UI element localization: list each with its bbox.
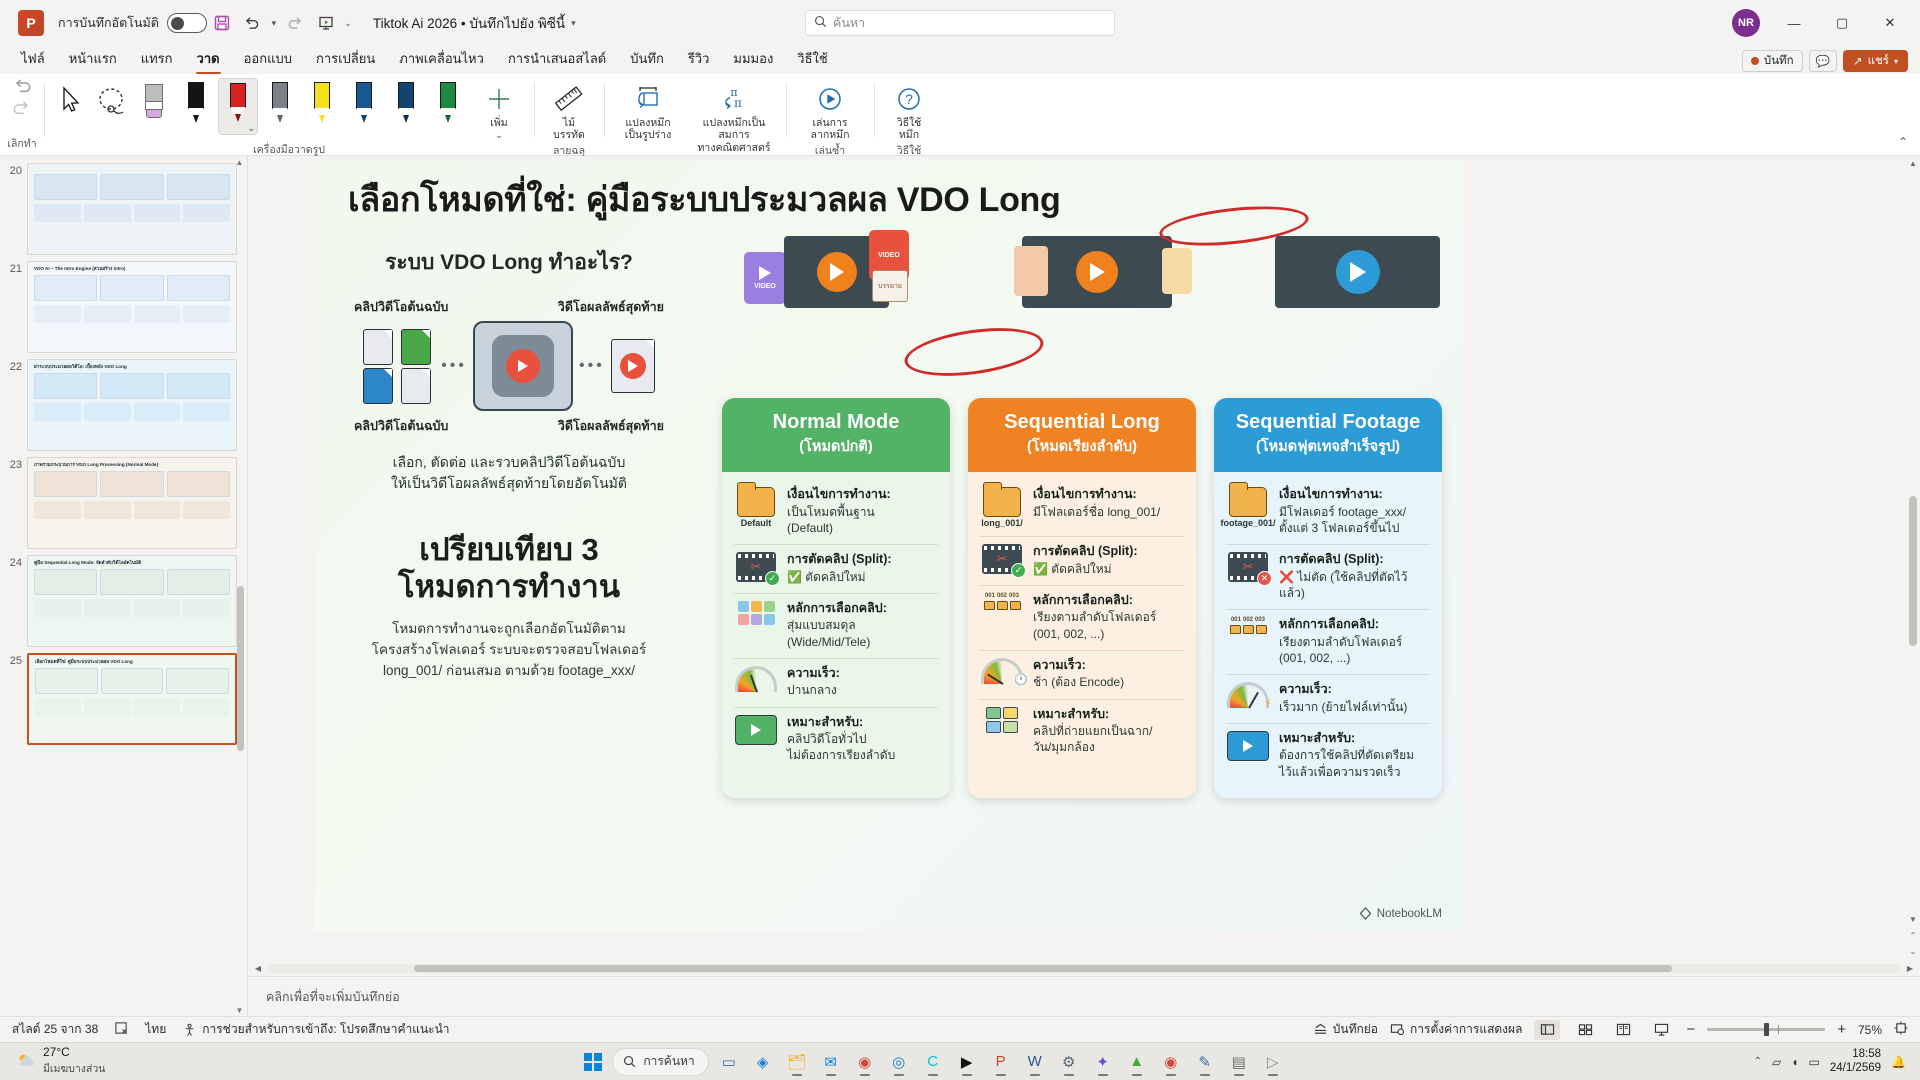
row-value: สุ่มแบบสมดุล(Wide/Mid/Tele) <box>787 617 938 649</box>
row-value: เรียงตามลำดับโฟลเดอร์(001, 002, ...) <box>1279 634 1430 666</box>
zoom-slider-handle[interactable] <box>1764 1023 1769 1036</box>
stencil-group: ไม้บรรทัด ลายฉลุ <box>534 74 604 155</box>
display-settings[interactable]: การตั้งค่าการแสดงผล <box>1390 1020 1522 1039</box>
weather-desc: มีเมฆบางส่วน <box>43 1060 105 1077</box>
autosave-toggle[interactable] <box>167 13 207 33</box>
video-icon <box>735 715 777 745</box>
weather-icon <box>16 1051 36 1071</box>
flow-label-input: คลิปวิดีโอต้นฉบับ <box>354 297 448 317</box>
view-normal-icon[interactable] <box>1534 1020 1560 1040</box>
notification-center-icon[interactable]: 🔔 <box>1891 1055 1906 1069</box>
taskbar-clock[interactable]: 18:58 24/1/2569 <box>1830 1048 1881 1076</box>
row-value: เป็นโหมดพื้นฐาน(Default) <box>787 504 938 536</box>
row-icon: Default <box>734 487 778 528</box>
ink-replay-label-1: เล่นการ <box>812 117 847 129</box>
document-icon <box>363 329 393 365</box>
widgets-icon[interactable]: ◈ <box>747 1047 779 1077</box>
system-tray: ⌃ ▱ ◖ ▭ 18:58 24/1/2569 🔔 <box>1754 1048 1912 1076</box>
ribbon-tab-0[interactable]: ไฟล์ <box>10 45 56 74</box>
notes-icon <box>1313 1023 1328 1036</box>
slide-preview-title: VDO AI – The Intro Engine (ส่วนสร้าง Int… <box>28 262 236 275</box>
tray-network-icon[interactable]: ▱ <box>1772 1055 1781 1069</box>
accessibility-icon <box>182 1023 197 1037</box>
notes-toggle[interactable]: บันทึกย่อ <box>1313 1020 1378 1039</box>
row-value: คลิปวิดีโอทั่วไปไม่ต้องการเรียงลำดับ <box>787 731 938 763</box>
card-row: เหมาะสำหรับ:ต้องการใช้คลิปที่ตัดเตรียมไว… <box>1226 724 1430 788</box>
row-value: มีโฟลเดอร์ชื่อ long_001/ <box>1033 504 1184 520</box>
undo-icon[interactable] <box>12 78 32 100</box>
minimize-button[interactable]: — <box>1772 7 1816 39</box>
row-key: ความเร็ว: <box>1033 658 1184 674</box>
flow-label-output: วิดีโอผลลัพธ์สุดท้าย <box>558 297 664 317</box>
pen-navy[interactable] <box>386 78 426 126</box>
search-placeholder: ค้นหา <box>833 13 865 33</box>
folder-icon <box>983 487 1021 517</box>
svg-text:?: ? <box>905 91 913 107</box>
row-value: ต้องการใช้คลิปที่ตัดเตรียมไว้แล้วเพื่อคว… <box>1279 747 1430 779</box>
zoom-level-label[interactable]: 75% <box>1858 1023 1882 1037</box>
zoom-in-button[interactable]: + <box>1837 1021 1846 1038</box>
status-bar-right: บันทึกย่อ การตั้งค่าการแสดงผล − + 75% <box>1313 1020 1908 1040</box>
weather-widget[interactable]: 27°C มีเมฆบางส่วน <box>8 1046 113 1077</box>
document-title[interactable]: Tiktok Ai 2026 • บันทึกไปยัง พิซีนี้ ▾ <box>373 12 576 34</box>
left-description: เลือก, ตัดต่อ และรวบคลิปวิดีโอต้นฉบับ ให… <box>354 452 664 494</box>
source-clips-group <box>363 329 435 404</box>
powerpoint-logo-icon: P <box>18 10 44 36</box>
gauge-icon <box>735 666 777 692</box>
slide-preview[interactable]: ภาพรวมกระบวนการ VDO Long Processing (Nor… <box>27 457 237 549</box>
ruler-label-2: บรรทัด <box>553 129 585 141</box>
card-body: long_001/เงื่อนไขการทำงาน:มีโฟลเดอร์ชื่อ… <box>968 472 1196 798</box>
select-tool[interactable] <box>50 78 90 122</box>
display-settings-icon <box>1390 1023 1405 1036</box>
notes-label: บันทึกย่อ <box>1333 1020 1378 1039</box>
slide-canvas-area: เลือกโหมดที่ใช่: คู่มือระบบประมวลผล VDO … <box>248 156 1920 960</box>
windows-start-icon[interactable] <box>578 1047 608 1077</box>
record-label: บันทึก <box>1764 52 1794 70</box>
row-value: ❌ ไม่ตัด (ใช้คลิปที่ตัดไว้แล้ว) <box>1279 569 1430 601</box>
scene-grid-icon <box>986 707 1018 733</box>
row-key: เหมาะสำหรับ: <box>787 715 938 731</box>
player-icon[interactable]: ▷ <box>1257 1047 1289 1077</box>
search-icon <box>623 1055 636 1068</box>
row-icon <box>734 715 778 745</box>
image-file-icon <box>401 368 431 404</box>
illustration-footage <box>1269 230 1454 320</box>
card-header: Sequential Long(โหมดเรียงลำดับ) <box>968 398 1196 472</box>
folder-label: long_001/ <box>981 518 1023 528</box>
pen-blue[interactable] <box>344 78 384 126</box>
left-desc-line-1: เลือก, ตัดต่อ และรวบคลิปวิดีโอต้นฉบับ <box>354 452 664 473</box>
anaconda-icon[interactable]: ▲ <box>1121 1047 1153 1077</box>
tray-volume-icon[interactable]: ◖ <box>1791 1055 1798 1069</box>
slide-count-label[interactable]: สไลด์ 25 จาก 38 <box>12 1020 98 1039</box>
status-bar: สไลด์ 25 จาก 38 ไทย การช่วยสำหรับการเข้า… <box>0 1016 1920 1042</box>
row-key: เงื่อนไขการทำงาน: <box>1279 487 1430 503</box>
word-icon[interactable]: W <box>1019 1047 1051 1077</box>
slide-left-column: ระบบ VDO Long ทำอะไร? คลิปวิดีโอต้นฉบับ … <box>354 246 664 682</box>
hourglass-icon <box>1162 248 1192 294</box>
undo-icon[interactable] <box>237 8 267 38</box>
fit-to-window-icon[interactable] <box>1894 1021 1908 1038</box>
video-icon <box>1227 731 1269 761</box>
row-value: เรียงตามลำดับโฟลเดอร์(001, 002, ...) <box>1033 609 1184 641</box>
row-icon: ✂✕ <box>1226 552 1270 582</box>
lasso-select-tool[interactable] <box>92 78 132 122</box>
ribbon: เลิกทำ ⌄ <box>0 74 1920 156</box>
flow-label-input-2: คลิปวิดีโอต้นฉบับ <box>354 416 448 436</box>
play-core-icon <box>506 349 540 383</box>
slide-thumbnail-21[interactable]: 21VDO AI – The Intro Engine (ส่วนสร้าง I… <box>0 258 247 356</box>
slide-thumbnail-20[interactable]: 20 <box>0 160 247 258</box>
thumbnail-scroll-down-icon[interactable]: ▼ <box>235 1004 244 1016</box>
hscroll-right-icon[interactable]: ▶ <box>1904 964 1916 973</box>
film-strip-icon-3 <box>1275 236 1440 308</box>
ink-help-label-2: หมึก <box>899 129 919 141</box>
left-sub-line-2: โครงสร้างโฟลเดอร์ ระบบจะตรวจสอบโฟลเดอร์ <box>354 640 664 661</box>
row-icon: 001002003 <box>1226 617 1270 634</box>
row-value: ปานกลาง <box>787 682 938 698</box>
accessibility-label: การช่วยสำหรับการเข้าถึง: โปรดสึกษาคำแนะน… <box>202 1020 449 1039</box>
start-presentation-icon[interactable] <box>311 8 341 38</box>
slide-number: 22 <box>4 359 22 373</box>
tray-battery-icon[interactable]: ▭ <box>1809 1055 1820 1069</box>
slide-thumbnail-22[interactable]: 22ผ่าระบบประมวลผลวิดีโอ: เบื้องหลัง VDO … <box>0 356 247 454</box>
ribbon-tab-6[interactable]: ภาพเคลื่อนไหว <box>388 45 495 74</box>
hscroll-thumb[interactable] <box>414 965 1672 972</box>
top-illustrations: VIDEO VIDEO บรรยาย <box>744 230 1454 320</box>
ribbon-tab-bar: ไฟล์หน้าแรกแทรกวาดออกแบบการเปลี่ยนภาพเคล… <box>0 46 1920 74</box>
autosave-label: การบันทึกอัตโนมัติ <box>58 13 159 33</box>
card-title-th: (โหมดเรียงลำดับ) <box>976 435 1188 458</box>
pen-dropdown-icon[interactable]: ⌄ <box>247 123 255 134</box>
view-slideshow-icon[interactable] <box>1648 1020 1674 1040</box>
slide-number: 25 <box>4 653 22 667</box>
convert-group: แปลงหมึกเป็นรูปร่าง ππ แปลงหมึกเป็นสมการ… <box>604 74 786 155</box>
tray-chevron-icon[interactable]: ⌃ <box>1754 1056 1762 1067</box>
mail-icon[interactable]: ✉ <box>815 1047 847 1077</box>
final-video-icon <box>611 339 655 393</box>
illustration-sequential <box>1014 230 1199 320</box>
row-key: เงื่อนไขการทำงาน: <box>787 487 938 503</box>
card-row: ✂✓การตัดคลิป (Split):✅ ตัดคลิปใหม่ <box>734 545 938 594</box>
language-label[interactable]: ไทย <box>145 1020 166 1039</box>
edge-icon[interactable]: ◎ <box>883 1047 915 1077</box>
card-title-en: Sequential Footage <box>1222 411 1434 433</box>
flow-labels-bottom: คลิปวิดีโอต้นฉบับ วิดีโอผลลัพธ์สุดท้าย <box>354 416 664 436</box>
people-icon <box>1014 246 1048 296</box>
card-row: ⚡ความเร็ว:เร็วมาก (ย้ายไฟล์เท่านั้น) <box>1226 675 1430 724</box>
taskbar-search-label: การค้นหา <box>643 1052 694 1071</box>
drawing-tools-group: ⌄ เพิ่ม <box>44 74 534 155</box>
slide-thumbnail-25[interactable]: 25เลือกโหมดที่ใช่: คู่มือระบบประมวลผล VD… <box>0 650 247 748</box>
slide-canvas[interactable]: เลือกโหมดที่ใช่: คู่มือระบบประมวลผล VDO … <box>314 160 1464 930</box>
row-key: การตัดคลิป (Split): <box>787 552 938 568</box>
ribbon-tab-3[interactable]: วาด <box>186 45 231 74</box>
gauge-slow-icon: 🕐 <box>981 658 1023 684</box>
ink-annotation-ellipse-long001 <box>902 320 1047 383</box>
row-value: ✅ ตัดคลิปใหม่ <box>787 569 938 585</box>
pencil-gray[interactable] <box>260 78 300 126</box>
folder-icon <box>1229 487 1267 517</box>
card-row: เหมาะสำหรับ:คลิปวิดีโอทั่วไปไม่ต้องการเร… <box>734 708 938 772</box>
slide-thumbnail-pane[interactable]: ▲ ▼ 2021VDO AI – The Intro Engine (ส่วนส… <box>0 156 248 1016</box>
row-icon <box>1226 731 1270 761</box>
slide-preview[interactable]: เลือกโหมดที่ใช่: คู่มือระบบประมวลผล VDO … <box>27 653 237 745</box>
scroll-up-icon[interactable]: ▲ <box>1907 156 1919 170</box>
ribbon-tab-5[interactable]: การเปลี่ยน <box>305 45 386 74</box>
ink-help-button[interactable]: ? วิธีใช้หมึก <box>880 78 938 142</box>
pen-green[interactable] <box>428 78 468 126</box>
highlighter-yellow[interactable] <box>302 78 342 126</box>
record-button[interactable]: บันทึก <box>1742 50 1803 72</box>
add-pen-button[interactable]: เพิ่ม ⌄ <box>470 78 528 141</box>
slide-number: 21 <box>4 261 22 275</box>
processor-icon <box>473 321 573 411</box>
avatar[interactable]: NR <box>1732 9 1760 37</box>
save-icon[interactable] <box>207 8 237 38</box>
maximize-button[interactable]: ▢ <box>1820 7 1864 39</box>
notebooklm-icon <box>1359 907 1372 920</box>
ribbon-tab-2[interactable]: แทรก <box>130 45 184 74</box>
previous-slide-icon[interactable]: ⌃ <box>1907 928 1919 942</box>
notes-icon[interactable]: ▤ <box>1223 1047 1255 1077</box>
settings-icon[interactable]: ⚙ <box>1053 1047 1085 1077</box>
illustration-normal: VIDEO VIDEO บรรยาย <box>744 230 944 320</box>
card-row: ความเร็ว:ปานกลาง <box>734 659 938 708</box>
row-icon <box>734 666 778 692</box>
notes-placeholder: คลิกเพื่อที่จะเพิ่มบันทึกย่อ <box>266 987 400 1007</box>
ink-to-shape-button[interactable]: แปลงหมึกเป็นรูปร่าง <box>610 78 686 142</box>
slide-preview[interactable]: คู่มือ Sequential Long Mode: จัดลำดับวิด… <box>27 555 237 647</box>
taskbar-center: การค้นหา ▭◈🗂✉◉◎C▶PW⚙✦▲◉✎▤▷ <box>578 1047 1288 1077</box>
card-row: 🕐ความเร็ว:ช้า (ต้อง Encode) <box>980 651 1184 700</box>
weather-temp: 27°C <box>43 1046 105 1060</box>
card-title-en: Sequential Long <box>976 411 1188 433</box>
taskbar-apps: ▭◈🗂✉◉◎C▶PW⚙✦▲◉✎▤▷ <box>713 1047 1289 1077</box>
replay-group: เล่นการลากหมึก เล่นซ้ำ <box>786 74 874 155</box>
undo-group-label: เลิกทำ <box>7 135 36 155</box>
row-key: หลักการเลือกคลิป: <box>787 601 938 617</box>
left-big-line-1: เปรียบเทียบ 3 <box>354 532 664 569</box>
slide-preview[interactable]: VDO AI – The Intro Engine (ส่วนสร้าง Int… <box>27 261 237 353</box>
scroll-down-icon[interactable]: ▼ <box>1907 912 1919 926</box>
hscroll-track[interactable] <box>267 964 1901 973</box>
feather-icon[interactable]: ✎ <box>1189 1047 1221 1077</box>
ordered-folders-icon: 001002003 <box>1230 617 1267 634</box>
undo-group: เลิกทำ <box>0 74 44 155</box>
pen-red-selected[interactable]: ⌄ <box>218 78 258 135</box>
accessibility-status[interactable]: การช่วยสำหรับการเข้าถึง: โปรดสึกษาคำแนะน… <box>182 1020 449 1039</box>
ribbon-tab-4[interactable]: ออกแบบ <box>233 45 303 74</box>
eraser-tool[interactable] <box>134 78 174 122</box>
ink-to-math-label-1: แปลงหมึกเป็นสมการ <box>703 117 766 141</box>
slide-horizontal-scrollbar[interactable]: ◀ ▶ <box>248 960 1920 976</box>
windows-taskbar: 27°C มีเมฆบางส่วน การค้นหา ▭◈🗂✉◉◎C▶PW⚙✦▲… <box>0 1042 1920 1080</box>
slide-number: 23 <box>4 457 22 471</box>
row-value: ช้า (ต้อง Encode) <box>1033 674 1184 690</box>
chrome2-icon[interactable]: ◉ <box>1155 1047 1187 1077</box>
folder-icon <box>737 487 775 517</box>
next-slide-icon[interactable]: ⌄ <box>1907 944 1919 958</box>
collapse-ribbon-icon[interactable]: ⌃ <box>1898 135 1908 149</box>
lightning-icon: ⚡ <box>1264 697 1272 710</box>
help-group: ? วิธีใช้หมึก วิธีใช้ <box>874 74 944 155</box>
gear-icon <box>492 335 554 397</box>
ribbon-tab-7[interactable]: การนำเสนอสไลด์ <box>497 45 617 74</box>
ink-replay-button[interactable]: เล่นการลากหมึก <box>792 78 868 142</box>
slide-title[interactable]: เลือกโหมดที่ใช่: คู่มือระบบประมวลผล VDO … <box>348 172 1061 226</box>
ribbon-tab-1[interactable]: หน้าแรก <box>58 45 128 74</box>
flow-dots-right: ••• <box>579 357 605 375</box>
row-icon: 🕐 <box>980 658 1024 684</box>
folder-label: Default <box>741 518 772 528</box>
row-key: การตัดคลิป (Split): <box>1033 544 1184 560</box>
search-box[interactable]: ค้นหา <box>805 10 1115 36</box>
card-row: เหมาะสำหรับ:คลิปที่ถ่ายแยกเป็นฉาก/วัน/มุ… <box>980 700 1184 764</box>
slide-thumbnail-23[interactable]: 23ภาพรวมกระบวนการ VDO Long Processing (N… <box>0 454 247 552</box>
view-slide-sorter-icon[interactable] <box>1572 1020 1598 1040</box>
slide-preview[interactable]: ผ่าระบบประมวลผลวิดีโอ: เบื้องหลัง VDO Lo… <box>27 359 237 451</box>
video-file-blue-icon <box>363 368 393 404</box>
redo-icon[interactable] <box>12 100 32 122</box>
flow-diagram: ••• ••• <box>354 321 664 411</box>
row-key: ความเร็ว: <box>787 666 938 682</box>
canva-icon[interactable]: C <box>917 1047 949 1077</box>
pen-black[interactable] <box>176 78 216 126</box>
thumbnail-scroll-thumb[interactable] <box>237 586 244 751</box>
row-icon: footage_001/ <box>1226 487 1270 528</box>
left-desc-line-2: ให้เป็นวิดีโอผลลัพธ์สุดท้ายโดยอัตโนมัติ <box>354 473 664 494</box>
view-reading-icon[interactable] <box>1610 1020 1636 1040</box>
row-icon: ✂✓ <box>980 544 1024 574</box>
slide-preview-title: เลือกโหมดที่ใช่: คู่มือระบบประมวลผล VDO … <box>29 655 235 668</box>
hscroll-left-icon[interactable]: ◀ <box>252 964 264 973</box>
obsidian-icon[interactable]: ✦ <box>1087 1047 1119 1077</box>
thumbnail-scrollbar[interactable]: ▲ ▼ <box>236 156 245 1016</box>
chrome-icon[interactable]: ◉ <box>849 1047 881 1077</box>
left-big-line-2: โหมดการทำงาน <box>354 569 664 606</box>
ribbon-tab-9[interactable]: รีวิว <box>677 45 721 74</box>
card-header: Normal Mode(โหมดปกติ) <box>722 398 950 472</box>
slide-preview-title: คู่มือ Sequential Long Mode: จัดลำดับวิด… <box>28 556 236 569</box>
chevron-down-icon[interactable]: ▾ <box>571 18 576 29</box>
x-badge-icon: ✕ <box>1257 571 1272 586</box>
display-settings-label: การตั้งค่าการแสดงผล <box>1410 1020 1522 1039</box>
title-bar: P การบันทึกอัตโนมัติ ▾ ⌄ Tiktok Ai 2026 … <box>0 0 1920 46</box>
slide-scroll-thumb[interactable] <box>1909 496 1917 646</box>
taskview-icon[interactable]: ▭ <box>713 1047 745 1077</box>
row-icon <box>980 707 1024 733</box>
redo-icon[interactable] <box>281 8 311 38</box>
ribbon-tab-10[interactable]: มมมอง <box>722 45 784 74</box>
row-icon: ⚡ <box>1226 682 1270 708</box>
ruler-button[interactable]: ไม้บรรทัด <box>540 78 598 142</box>
clock-icon: 🕐 <box>1014 673 1028 686</box>
autosave-control[interactable]: การบันทึกอัตโนมัติ <box>58 13 207 33</box>
zoom-out-button[interactable]: − <box>1686 1021 1695 1038</box>
script-icon: บรรยาย <box>872 270 908 302</box>
mode-card-sequential-footage[interactable]: Sequential Footage(โหมดฟุตเทจสำเร็จรูป)f… <box>1214 398 1442 798</box>
card-title-th: (โหมดฟุตเทจสำเร็จรูป) <box>1222 435 1434 458</box>
slide-preview[interactable] <box>27 163 237 255</box>
card-body: Defaultเงื่อนไขการทำงาน:เป็นโหมดพื้นฐาน(… <box>722 472 950 798</box>
powerpoint-icon[interactable]: P <box>985 1047 1017 1077</box>
ink-to-math-button[interactable]: ππ แปลงหมึกเป็นสมการทางคณิตศาสตร์ <box>688 78 780 154</box>
row-key: ความเร็ว: <box>1279 682 1430 698</box>
slide-number: 24 <box>4 555 22 569</box>
left-big-heading: เปรียบเทียบ 3 โหมดการทำงาน <box>354 532 664 605</box>
clip-selection-icon <box>738 601 775 625</box>
card-title-th: (โหมดปกติ) <box>730 435 942 458</box>
capcut-icon[interactable]: ▶ <box>951 1047 983 1077</box>
notebooklm-label: NotebookLM <box>1377 908 1442 920</box>
gauge-fast-icon: ⚡ <box>1227 682 1269 708</box>
ink-to-shape-label-2: เป็นรูปร่าง <box>625 129 671 141</box>
share-dropdown-icon: ▾ <box>1894 57 1898 66</box>
ink-to-shape-label-1: แปลงหมึก <box>625 117 670 129</box>
slide-thumbnail-24[interactable]: 24คู่มือ Sequential Long Mode: จัดลำดับว… <box>0 552 247 650</box>
notebooklm-watermark: NotebookLM <box>1359 907 1442 920</box>
video-file-green-icon <box>401 329 431 365</box>
mode-card-normal-mode[interactable]: Normal Mode(โหมดปกติ)Defaultเงื่อนไขการท… <box>722 398 950 798</box>
close-button[interactable]: ✕ <box>1868 7 1912 39</box>
row-icon: 001002003 <box>980 593 1024 610</box>
ink-help-label-1: วิธีใช้ <box>897 117 922 129</box>
card-row: Defaultเงื่อนไขการทำงาน:เป็นโหมดพื้นฐาน(… <box>734 480 938 545</box>
powerpoint-window: P การบันทึกอัตโนมัติ ▾ ⌄ Tiktok Ai 2026 … <box>0 0 1920 1080</box>
slide-editor: เลือกโหมดที่ใช่: คู่มือระบบประมวลผล VDO … <box>248 156 1920 1016</box>
ribbon-tab-8[interactable]: บันทึก <box>619 45 675 74</box>
clock-date: 24/1/2569 <box>1830 1062 1881 1076</box>
left-subtext: โหมดการทำงานจะถูกเลือกอัตโนมัติตาม โครงส… <box>354 619 664 682</box>
customize-quick-access-icon[interactable]: ⌄ <box>341 18 355 29</box>
card-row: 001002003หลักการเลือกคลิป:เรียงตามลำดับโ… <box>1226 610 1430 675</box>
document-title-text: Tiktok Ai 2026 • บันทึกไปยัง พิซีนี้ <box>373 12 565 34</box>
flow-label-output-2: วิดีโอผลลัพธ์สุดท้าย <box>558 416 664 436</box>
zoom-slider[interactable] <box>1707 1028 1825 1031</box>
card-header: Sequential Footage(โหมดฟุตเทจสำเร็จรูป) <box>1214 398 1442 472</box>
file-explorer-icon[interactable]: 🗂 <box>781 1047 813 1077</box>
check-badge-icon: ✓ <box>1011 563 1026 578</box>
row-value: ✅ ตัดคลิปใหม่ <box>1033 561 1184 577</box>
slide-vertical-scrollbar[interactable]: ▲ ▼ ⌃ ⌄ <box>1906 156 1920 960</box>
row-value: มีโฟลเดอร์ footage_xxx/ตั้งแต่ 3 โฟลเดอร… <box>1279 504 1430 536</box>
ribbon-tab-11[interactable]: วิธีใช้ <box>786 45 838 74</box>
ribbon-tabs-right: บันทึก💬↗แชร์▾ <box>1742 50 1920 74</box>
share-button[interactable]: ↗แชร์▾ <box>1843 50 1908 72</box>
taskbar-search[interactable]: การค้นหา <box>612 1048 708 1076</box>
mode-card-sequential-long[interactable]: Sequential Long(โหมดเรียงลำดับ)long_001/… <box>968 398 1196 798</box>
undo-dropdown-icon[interactable]: ▾ <box>267 18 281 29</box>
card-row: หลักการเลือกคลิป:สุ่มแบบสมดุล(Wide/Mid/T… <box>734 594 938 659</box>
row-key: เงื่อนไขการทำงาน: <box>1033 487 1184 503</box>
card-row: 001002003หลักการเลือกคลิป:เรียงตามลำดับโ… <box>980 586 1184 651</box>
spellcheck-icon[interactable] <box>114 1021 129 1038</box>
notes-pane[interactable]: คลิกเพื่อที่จะเพิ่มบันทึกย่อ <box>248 976 1920 1016</box>
search-icon <box>814 15 827 31</box>
add-pen-dropdown-icon[interactable]: ⌄ <box>495 130 503 141</box>
svg-text:π: π <box>734 96 742 110</box>
row-key: เหมาะสำหรับ: <box>1279 731 1430 747</box>
window-controls: NR — ▢ ✕ <box>1732 7 1912 39</box>
row-icon <box>734 601 778 625</box>
card-row: ✂✓การตัดคลิป (Split):✅ ตัดคลิปใหม่ <box>980 537 1184 586</box>
mode-cards: Normal Mode(โหมดปกติ)Defaultเงื่อนไขการท… <box>722 398 1442 798</box>
comments-icon[interactable]: 💬 <box>1809 50 1837 72</box>
flow-labels-top: คลิปวิดีโอต้นฉบับ วิดีโอผลลัพธ์สุดท้าย <box>354 297 664 317</box>
add-pen-label: เพิ่ม <box>490 117 507 129</box>
